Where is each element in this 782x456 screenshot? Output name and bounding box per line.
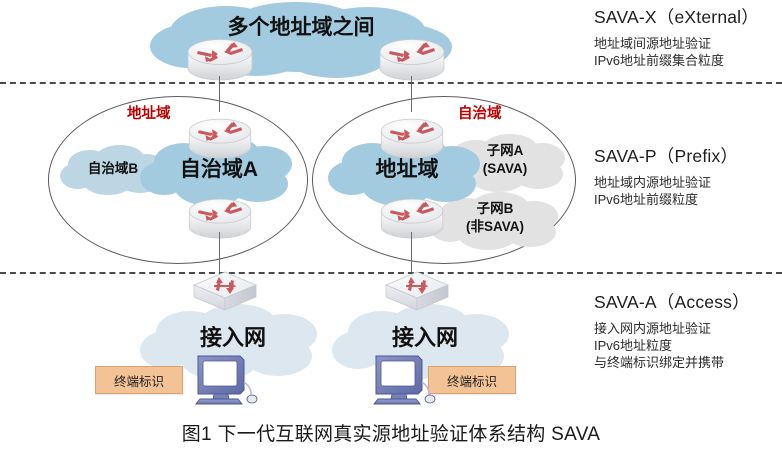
zone-label-address-domain: 地址域 <box>127 102 171 123</box>
host-computer-right <box>366 352 446 408</box>
access-switch-left <box>190 268 260 316</box>
domain-a-router-top <box>187 110 253 160</box>
divider-x-p <box>0 82 782 84</box>
host-computer-left <box>188 352 268 408</box>
legend-sava-p: SAVA-P（Prefix） 地址域内源地址验证 IPv6地址前缀粒度 <box>594 143 738 208</box>
domain-b-router-bottom <box>379 190 445 240</box>
legend-sava-p-line-2: IPv6地址前缀粒度 <box>594 191 738 208</box>
terminal-id-tag-right-label: 终端标识 <box>447 371 497 390</box>
legend-sava-a: SAVA-A（Access） 接入网内源地址验证 IPv6地址粒度 与终端标识绑… <box>594 289 750 371</box>
figure-caption: 图1 下一代互联网真实源地址验证体系结构 SAVA <box>0 419 782 446</box>
legend-sava-a-title: SAVA-A（Access） <box>594 289 750 314</box>
domain-b-router-top <box>379 110 445 160</box>
legend-sava-x: SAVA-X（eXternal） 地址域间源地址验证 IPv6地址前缀集合粒度 <box>594 4 759 69</box>
legend-sava-x-line-2: IPv6地址前缀集合粒度 <box>594 52 759 69</box>
zone-label-autonomous-domain: 自治域 <box>458 102 502 123</box>
inter-domain-router-right <box>378 30 446 82</box>
terminal-id-tag-left: 终端标识 <box>95 366 183 394</box>
legend-sava-a-line-2: IPv6地址粒度 <box>594 337 750 354</box>
inter-domain-router-left <box>186 30 254 82</box>
domain-a-router-bottom <box>187 190 253 240</box>
legend-sava-x-line-1: 地址域间源地址验证 <box>594 35 759 52</box>
legend-sava-a-line-1: 接入网内源地址验证 <box>594 320 750 337</box>
terminal-id-tag-left-label: 终端标识 <box>114 371 164 390</box>
legend-sava-p-line-1: 地址域内源地址验证 <box>594 174 738 191</box>
legend-sava-x-title: SAVA-X（eXternal） <box>594 4 759 29</box>
access-switch-right <box>382 268 452 316</box>
figure-canvas: 多个地址域之间 <box>0 0 782 456</box>
legend-sava-a-line-3: 与终端标识绑定并携带 <box>594 354 750 371</box>
legend-sava-p-title: SAVA-P（Prefix） <box>594 143 738 168</box>
